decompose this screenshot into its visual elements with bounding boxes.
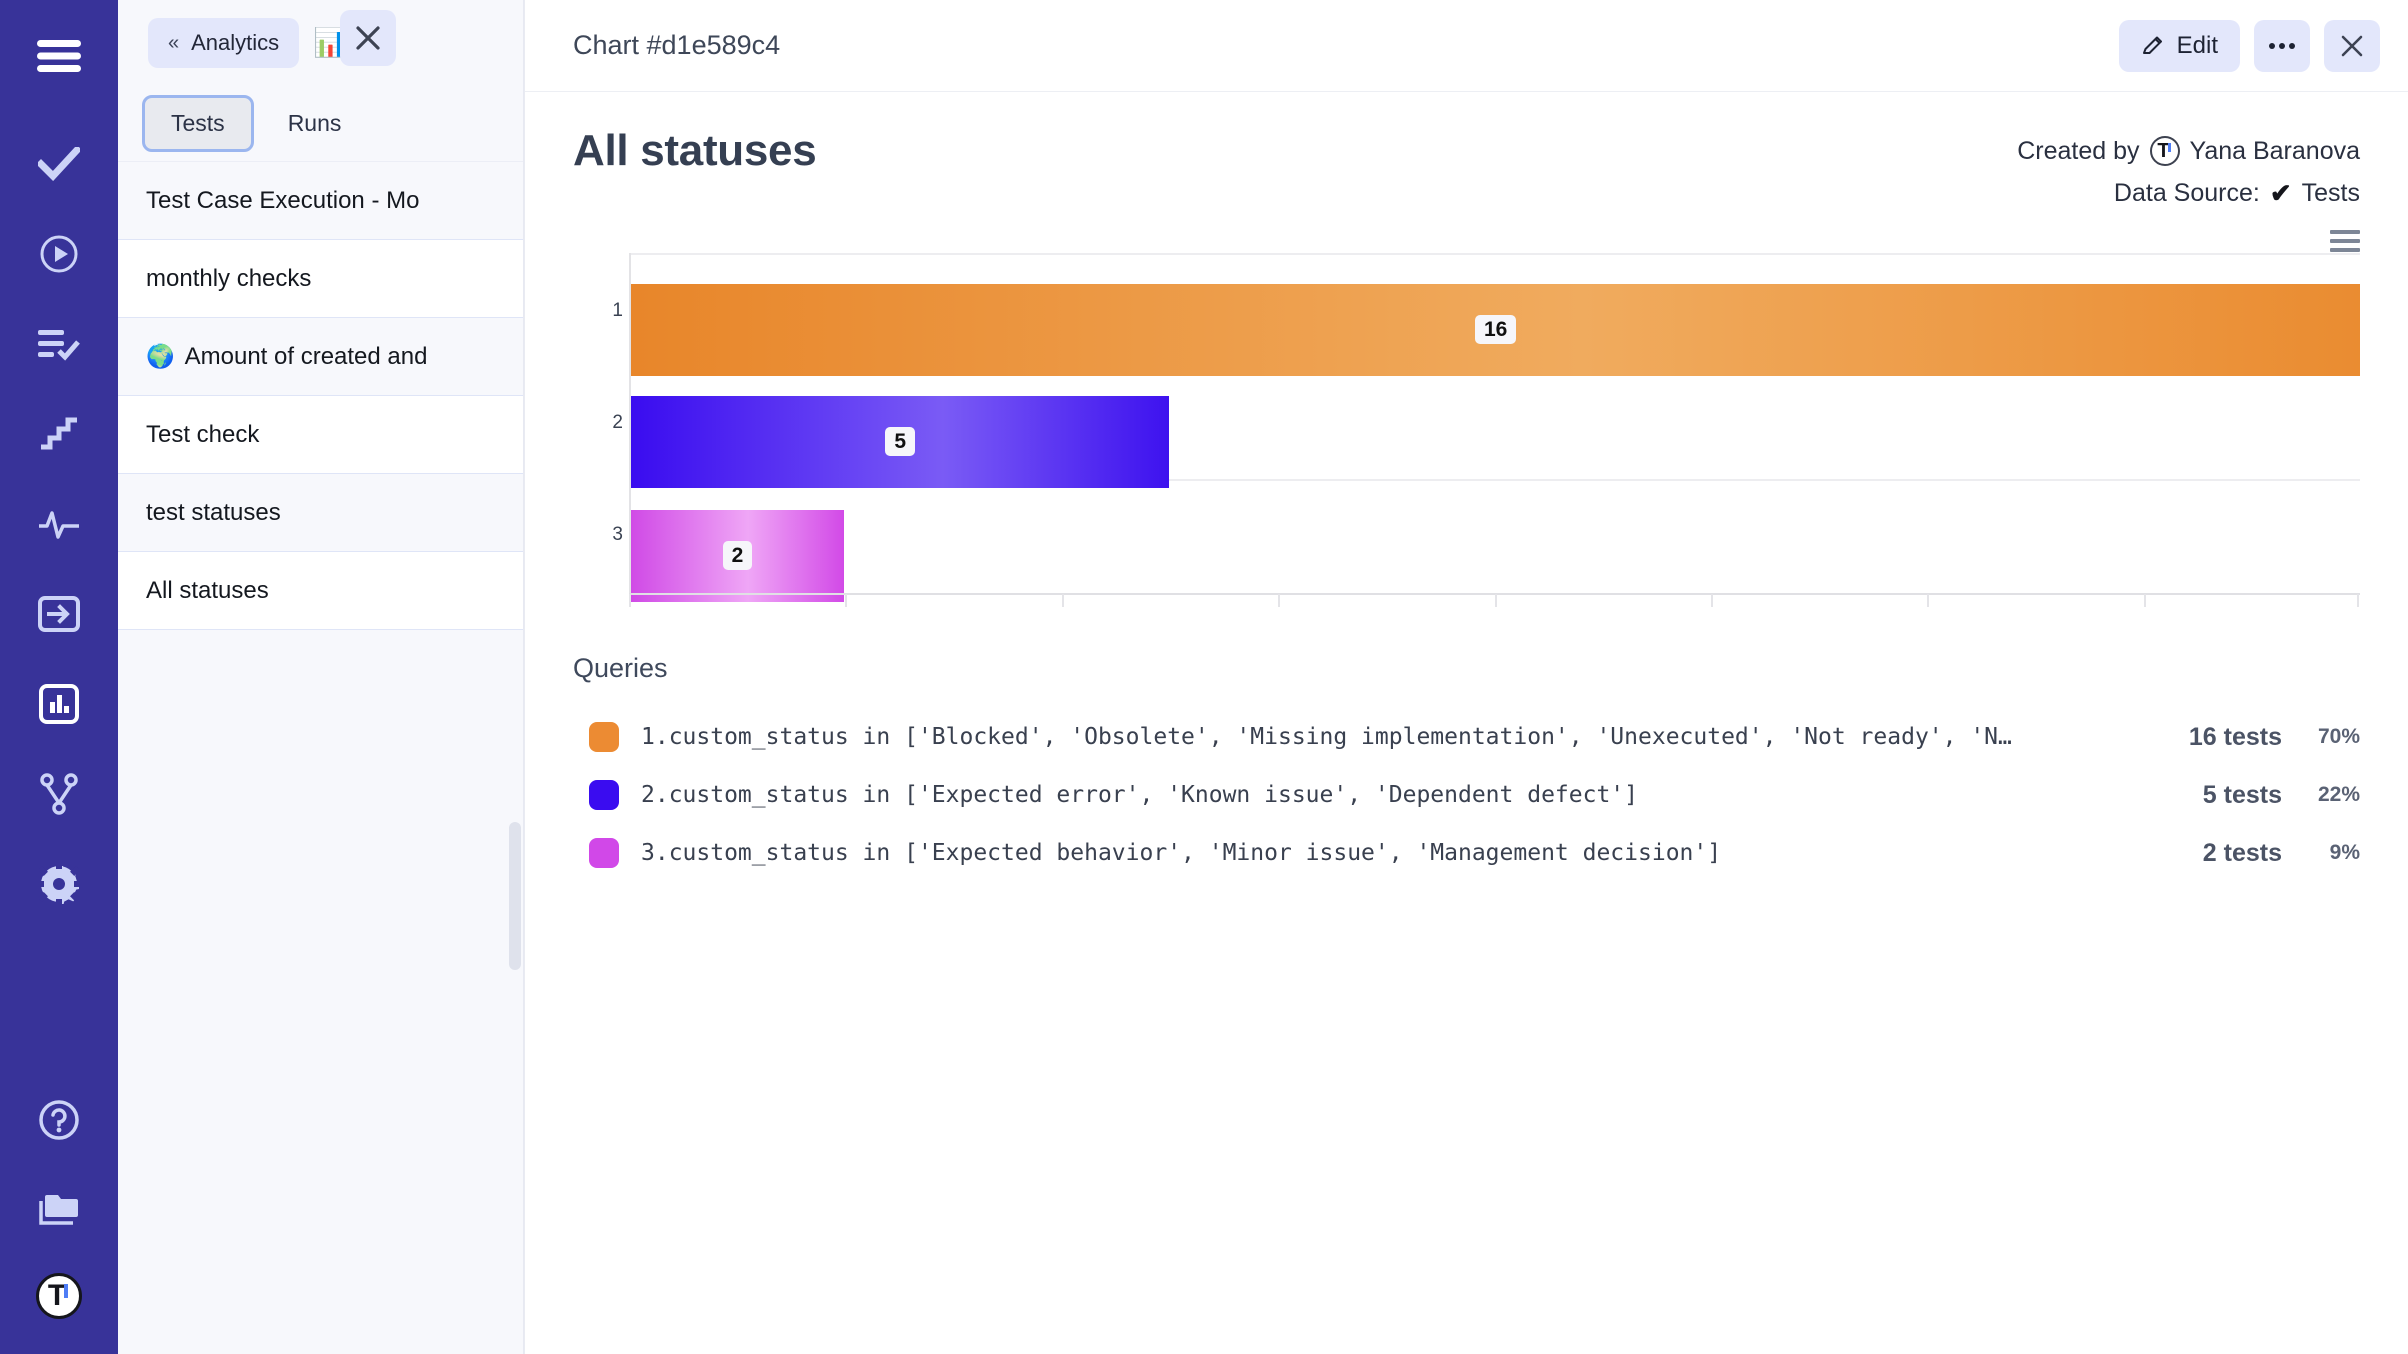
query-percent: 9% (2282, 841, 2360, 865)
y-axis-labels: 1 2 3 (599, 253, 623, 593)
chevron-left-double-icon: « (168, 32, 177, 55)
close-icon (355, 25, 381, 51)
data-source-row: Data Source: ✔ Tests (2017, 178, 2360, 209)
pencil-icon (2141, 34, 2165, 58)
more-options-button[interactable] (2254, 20, 2310, 72)
branch-icon[interactable] (31, 766, 87, 822)
analytics-panel: « Analytics 📊 ●● Tests Runs Test Case Ex… (118, 0, 524, 1354)
query-color-swatch (589, 780, 619, 810)
list-item-label: Test check (146, 421, 259, 449)
panel-toolbar: « Analytics 📊 ●● (118, 0, 523, 86)
page-title: Chart #d1e589c4 (573, 30, 2119, 61)
gridline (629, 253, 2360, 255)
analytics-icon[interactable] (31, 676, 87, 732)
created-by-label: Created by (2017, 137, 2139, 166)
y-tick-label: 3 (599, 524, 623, 546)
check-icon: ✔ (2270, 178, 2292, 209)
query-row[interactable]: 3.custom_status in ['Expected behavior',… (573, 830, 2360, 876)
queries-heading: Queries (573, 653, 2360, 684)
x-tick (1927, 594, 1929, 607)
list-item[interactable]: Test check (118, 396, 523, 474)
y-tick-label: 2 (599, 412, 623, 434)
avatar-accent-bar (2168, 143, 2171, 152)
panel-tabs: Tests Runs (118, 86, 523, 162)
data-source-label: Data Source: (2114, 179, 2260, 208)
tab-tests[interactable]: Tests (142, 95, 254, 152)
chart-detail-view: Chart #d1e589c4 Edit All statuses (524, 0, 2408, 1354)
bar-value-label: 5 (885, 427, 915, 456)
list-item-label: Test Case Execution - Mo (146, 187, 419, 215)
query-test-count: 5 tests (2132, 781, 2282, 810)
analytics-list: Test Case Execution - Mo monthly checks … (118, 162, 523, 1354)
chart-head: All statuses Created by T Yana Baranova … (573, 126, 2360, 221)
query-row[interactable]: 1.custom_status in ['Blocked', 'Obsolete… (573, 714, 2360, 760)
panel-scrollbar[interactable] (509, 822, 521, 970)
help-icon[interactable] (31, 1092, 87, 1148)
bar-chart-plot: 1 2 3 16 5 2 (629, 253, 2360, 593)
query-color-swatch (589, 838, 619, 868)
edit-button[interactable]: Edit (2119, 20, 2240, 72)
list-item-label: monthly checks (146, 265, 311, 293)
chart-title: All statuses (573, 126, 2017, 176)
list-item[interactable]: All statuses (118, 552, 523, 630)
query-percent: 70% (2282, 725, 2360, 749)
menu-icon[interactable] (31, 28, 87, 84)
query-test-count: 16 tests (2132, 723, 2282, 752)
avatar: T (2150, 136, 2180, 166)
header-actions: Edit (2119, 20, 2380, 72)
close-icon (2339, 33, 2365, 59)
edit-button-label: Edit (2177, 32, 2218, 60)
bar-series-2[interactable]: 5 (631, 396, 1169, 488)
user-avatar[interactable]: T (31, 1268, 87, 1324)
app-root: T « Analytics 📊 ●● Tests Runs Test Case … (0, 0, 2408, 1354)
x-tick (629, 594, 631, 607)
query-row[interactable]: 2.custom_status in ['Expected error', 'K… (573, 772, 2360, 818)
created-by-name: Yana Baranova (2190, 137, 2361, 166)
close-chart-button[interactable] (2324, 20, 2380, 72)
chart-context-menu-icon[interactable] (2330, 230, 2360, 252)
x-tick (845, 594, 847, 607)
x-tick (1278, 594, 1280, 607)
list-item[interactable]: test statuses (118, 474, 523, 552)
rail-bottom-group: T (31, 1092, 87, 1354)
close-panel-button[interactable] (340, 10, 396, 66)
query-color-swatch (589, 722, 619, 752)
list-item[interactable]: 🌍 Amount of created and (118, 318, 523, 396)
chart-header: Chart #d1e589c4 Edit (525, 0, 2408, 92)
x-tick (2144, 594, 2146, 607)
bar-value-label: 2 (723, 541, 753, 570)
query-percent: 22% (2282, 783, 2360, 807)
queries-section: Queries 1.custom_status in ['Blocked', '… (573, 653, 2360, 876)
bar-value-label: 16 (1475, 315, 1516, 344)
x-tick (1062, 594, 1064, 607)
query-expression: 1.custom_status in ['Blocked', 'Obsolete… (641, 724, 2132, 750)
plot-area: 1 2 3 16 5 2 (629, 253, 2360, 593)
tab-runs[interactable]: Runs (262, 98, 368, 149)
bar-series-1[interactable]: 16 (631, 284, 2360, 376)
checklist-icon[interactable] (31, 316, 87, 372)
play-circle-icon[interactable] (31, 226, 87, 282)
avatar-accent-bar (64, 1284, 68, 1298)
created-by-row: Created by T Yana Baranova (2017, 136, 2360, 166)
chart-body: All statuses Created by T Yana Baranova … (525, 92, 2408, 1354)
activity-icon[interactable] (31, 496, 87, 552)
x-tick (1711, 594, 1713, 607)
chart-meta: Created by T Yana Baranova Data Source: … (2017, 126, 2360, 221)
back-to-analytics-button[interactable]: « Analytics (148, 18, 299, 68)
gear-icon[interactable] (31, 856, 87, 912)
y-tick-label: 1 (599, 300, 623, 322)
list-item[interactable]: monthly checks (118, 240, 523, 318)
data-source-value: Tests (2302, 179, 2360, 208)
query-expression: 3.custom_status in ['Expected behavior',… (641, 840, 2132, 866)
list-item-label: Amount of created and (185, 343, 428, 371)
avatar: T (36, 1273, 82, 1319)
query-expression: 2.custom_status in ['Expected error', 'K… (641, 782, 2132, 808)
list-item[interactable]: Test Case Execution - Mo (118, 162, 523, 240)
globe-emoji-icon: 🌍 (146, 343, 175, 370)
list-item-label: test statuses (146, 499, 281, 527)
bar-series-3[interactable]: 2 (631, 510, 844, 602)
list-item-label: All statuses (146, 577, 269, 605)
ellipsis-icon (2268, 42, 2296, 50)
x-tick (1495, 594, 1497, 607)
import-icon[interactable] (31, 586, 87, 642)
left-nav-rail: T (0, 0, 118, 1354)
back-button-label: Analytics (191, 30, 279, 56)
folder-icon[interactable] (31, 1180, 87, 1236)
steps-icon[interactable] (31, 406, 87, 462)
check-icon[interactable] (31, 136, 87, 192)
query-test-count: 2 tests (2132, 839, 2282, 868)
x-tick (2357, 594, 2359, 607)
